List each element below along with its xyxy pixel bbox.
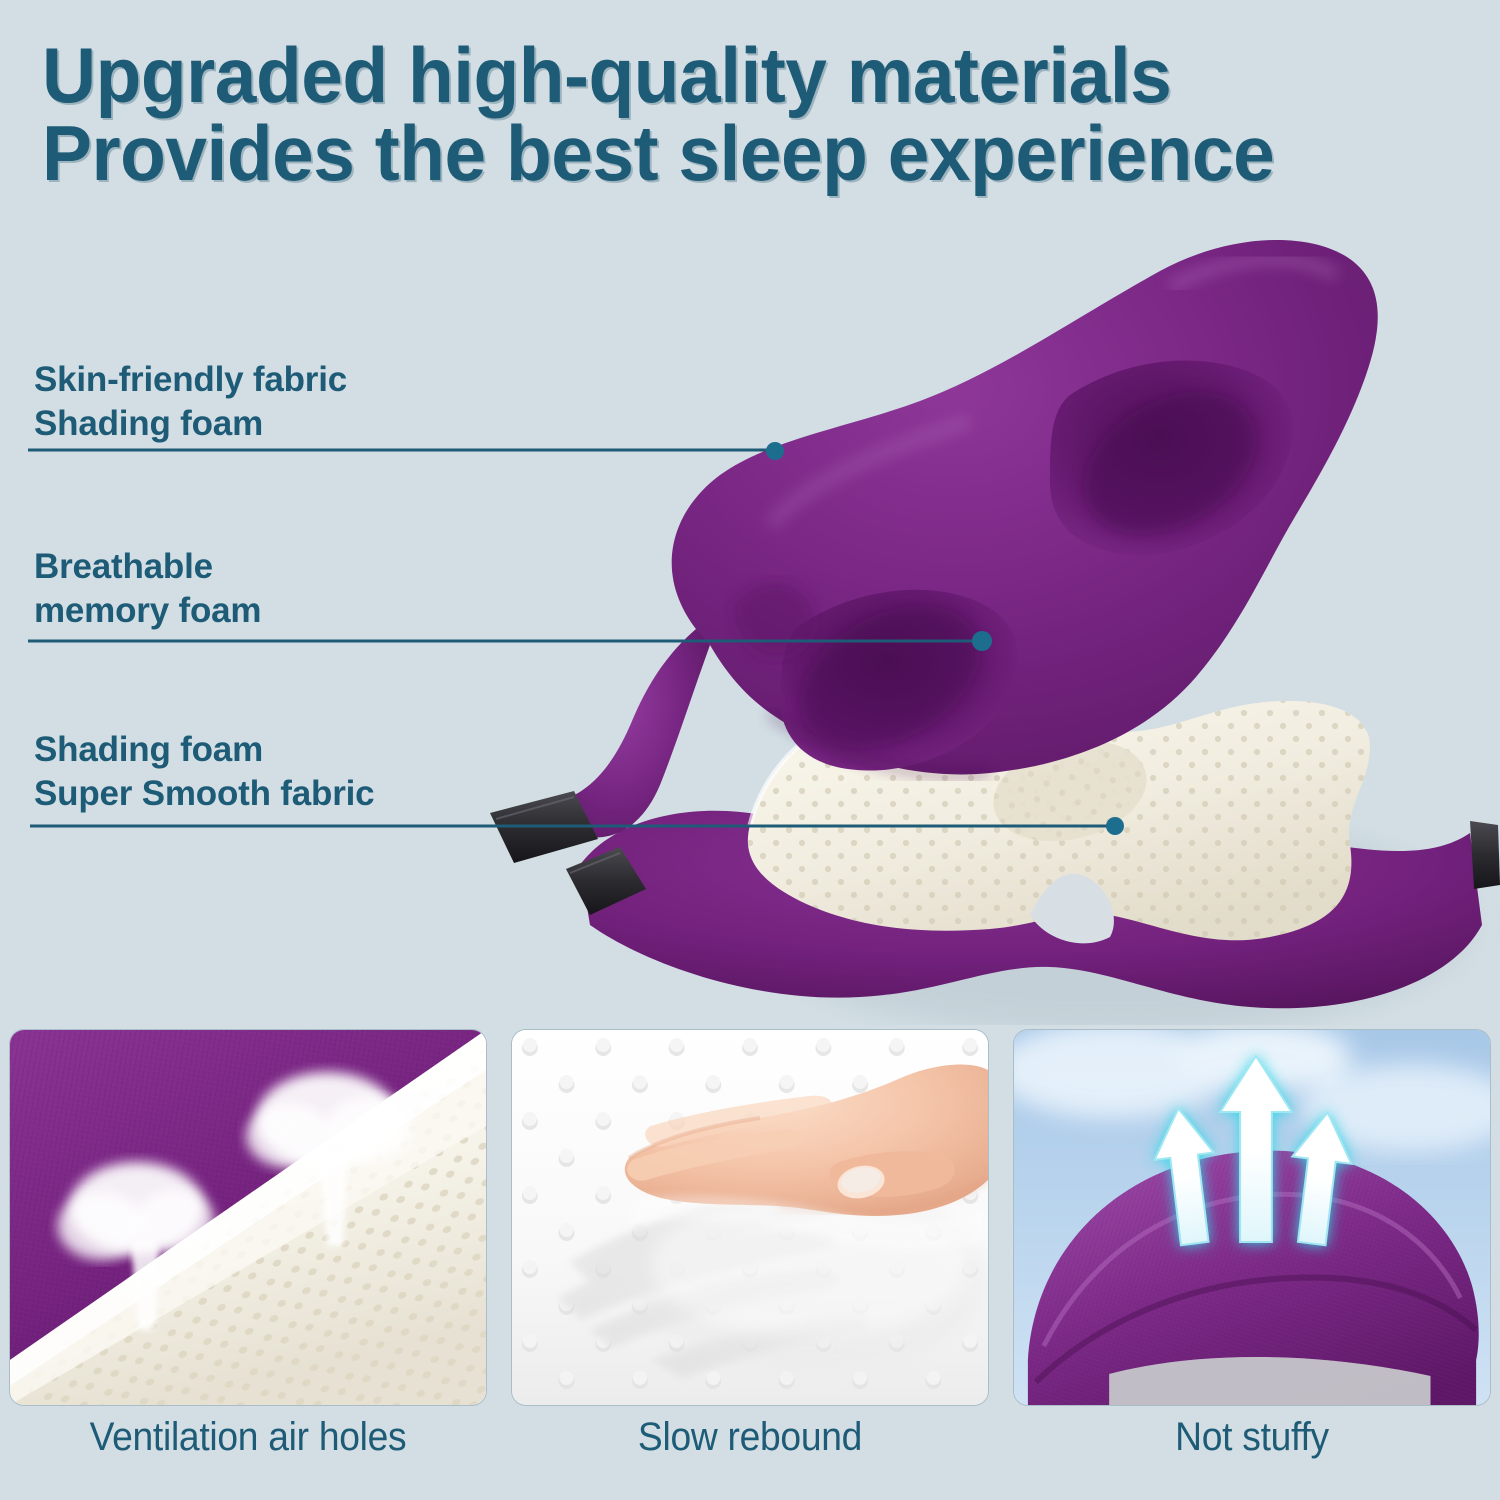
callout-3-line-1: Shading foam (34, 728, 374, 772)
feature-panel-slow-rebound (512, 1030, 988, 1405)
infographic-canvas: Upgraded high-quality materials Provides… (0, 0, 1500, 1500)
callout-shading-foam-smooth-fabric: Shading foam Super Smooth fabric (34, 728, 374, 816)
page-title: Upgraded high-quality materials Provides… (42, 36, 1386, 192)
callout-1-line-1: Skin-friendly fabric (34, 358, 347, 402)
airflow-arrows-icon (1014, 1030, 1490, 1405)
vapor-holes-icon (10, 1030, 486, 1405)
hand-press-foam-icon (512, 1030, 988, 1405)
feature-caption-row: Ventilation air holes Slow rebound Not s… (10, 1415, 1490, 1485)
callout-2-line-2: memory foam (34, 589, 261, 633)
caption-not-stuffy: Not stuffy (1031, 1415, 1474, 1485)
page-title-line-2: Provides the best sleep experience (42, 114, 1386, 192)
callout-2-line-1: Breathable (34, 545, 261, 589)
product-illustration (470, 225, 1500, 1025)
callout-skin-friendly-fabric: Skin-friendly fabric Shading foam (34, 358, 347, 446)
page-title-line-1: Upgraded high-quality materials (42, 36, 1386, 114)
feature-panel-ventilation (10, 1030, 486, 1405)
feature-panel-not-stuffy (1014, 1030, 1490, 1405)
callout-3-line-2: Super Smooth fabric (34, 772, 374, 816)
caption-slow-rebound: Slow rebound (529, 1415, 972, 1485)
callout-breathable-memory-foam: Breathable memory foam (34, 545, 261, 633)
feature-panel-row (10, 1030, 1490, 1405)
callout-1-line-2: Shading foam (34, 402, 347, 446)
product-image-exploded-mask (470, 225, 1500, 1025)
caption-ventilation: Ventilation air holes (27, 1415, 470, 1485)
strap-right (1470, 821, 1500, 889)
